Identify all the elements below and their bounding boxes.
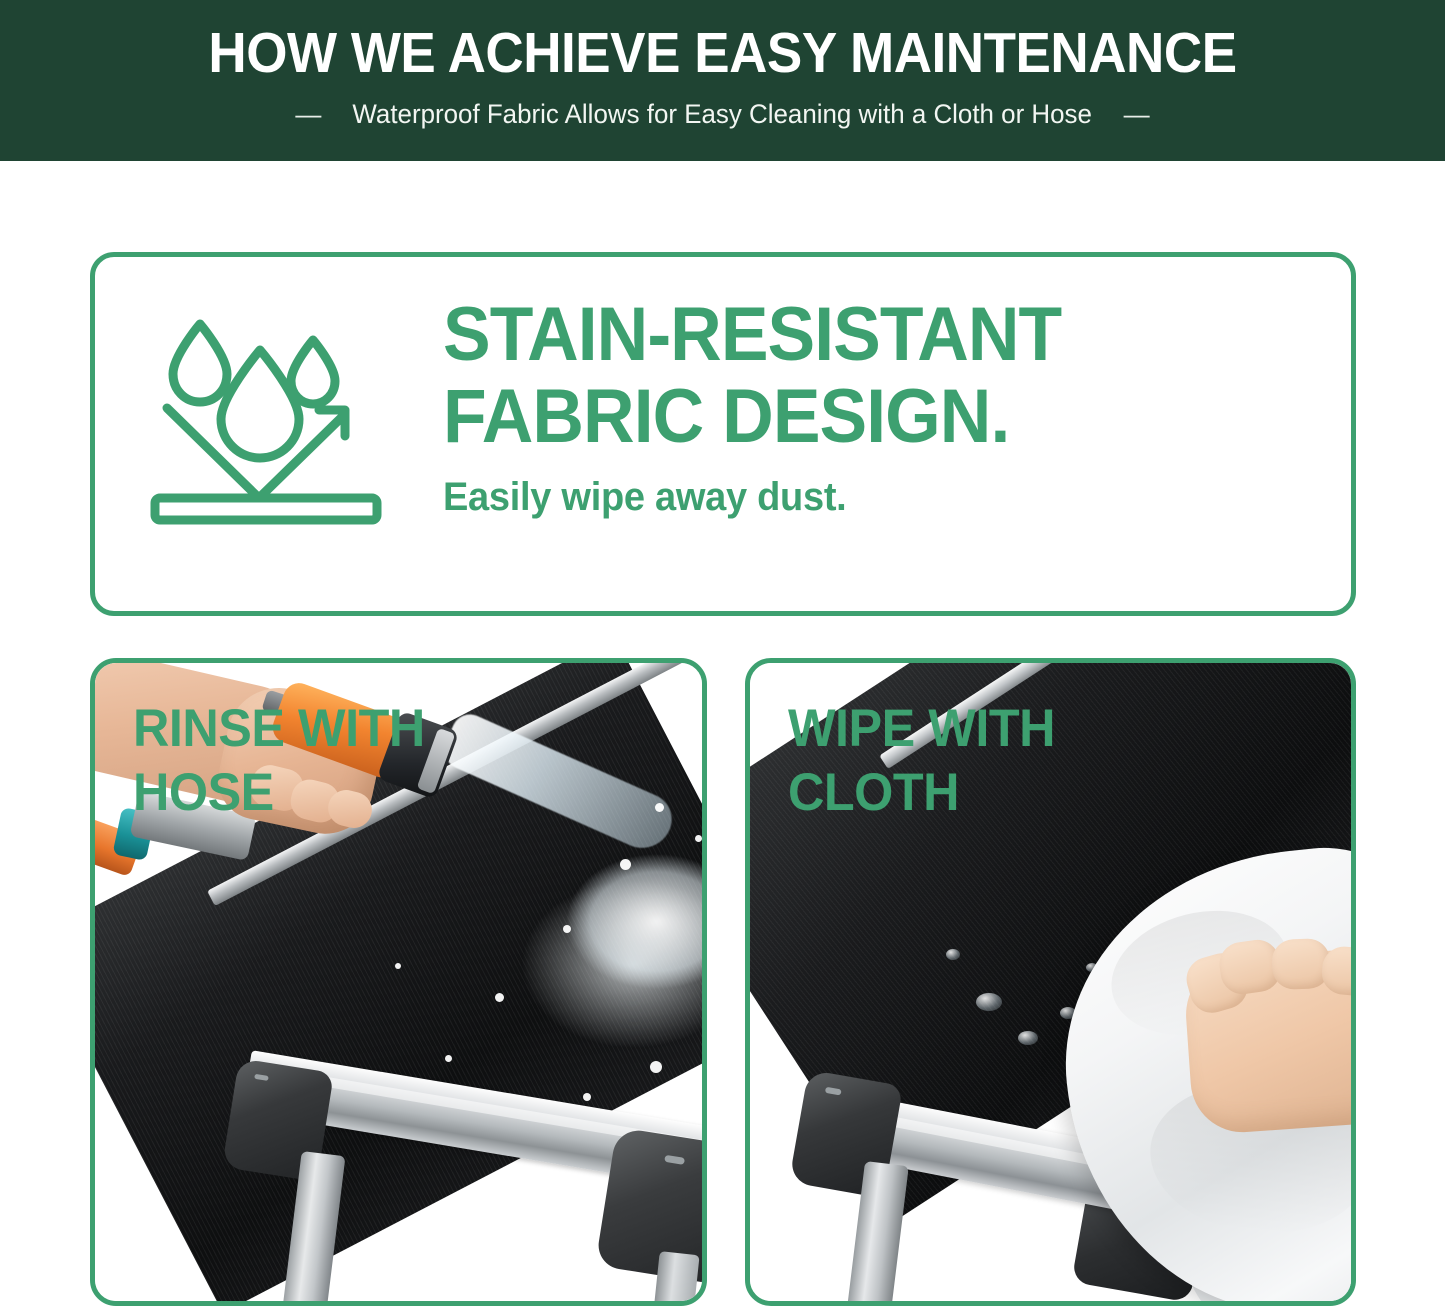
feature-text-block: STAIN-RESISTANT FABRIC DESIGN. Easily wi…: [443, 297, 1323, 519]
wipe-card-title: WIPE WITH CLOTH: [788, 697, 1055, 825]
splash-droplet: [655, 803, 664, 812]
splash-droplet: [705, 963, 707, 973]
banner-subtitle-row: — Waterproof Fabric Allows for Easy Clea…: [0, 98, 1445, 130]
rinse-title-line2: HOSE: [133, 761, 425, 825]
feature-card-stain-resistant: STAIN-RESISTANT FABRIC DESIGN. Easily wi…: [90, 252, 1356, 616]
splash-droplet: [583, 1093, 591, 1101]
feature-subline: Easily wipe away dust.: [443, 475, 1279, 519]
water-repellent-fabric-icon: [147, 312, 397, 542]
surface-bar-icon: [155, 498, 377, 520]
splash-droplet: [563, 925, 571, 933]
rinse-card-title: RINSE WITH HOSE: [133, 697, 425, 825]
wipe-with-cloth-card: WIPE WITH CLOTH: [745, 658, 1356, 1306]
splash-droplet: [395, 963, 401, 969]
water-bead: [1018, 1031, 1038, 1045]
wipe-title-line2: CLOTH: [788, 761, 1055, 825]
splash-droplet: [650, 1061, 662, 1073]
splash-droplet: [445, 1055, 452, 1062]
rinse-title-line1: RINSE WITH: [133, 697, 425, 761]
droplet-right-icon: [291, 340, 335, 404]
splash-droplet: [695, 835, 702, 842]
splash-droplet: [620, 859, 631, 870]
em-dash-left: —: [295, 99, 321, 129]
wipe-title-line1: WIPE WITH: [788, 697, 1055, 761]
feature-headline-line2: FABRIC DESIGN.: [443, 379, 1270, 455]
water-bead: [946, 949, 960, 960]
header-banner: HOW WE ACHIEVE EASY MAINTENANCE — Waterp…: [0, 0, 1445, 161]
page-title: HOW WE ACHIEVE EASY MAINTENANCE: [51, 22, 1395, 84]
droplet-center-icon: [221, 350, 299, 458]
feature-headline-line1: STAIN-RESISTANT: [443, 297, 1270, 373]
splash-droplet: [495, 993, 504, 1002]
page-subtitle: Waterproof Fabric Allows for Easy Cleani…: [353, 98, 1093, 130]
rinse-with-hose-card: RINSE WITH HOSE: [90, 658, 707, 1306]
deflect-chevron-icon: [167, 408, 343, 498]
water-bead: [976, 993, 1002, 1011]
droplet-left-icon: [173, 324, 227, 402]
em-dash-right: —: [1124, 99, 1150, 129]
